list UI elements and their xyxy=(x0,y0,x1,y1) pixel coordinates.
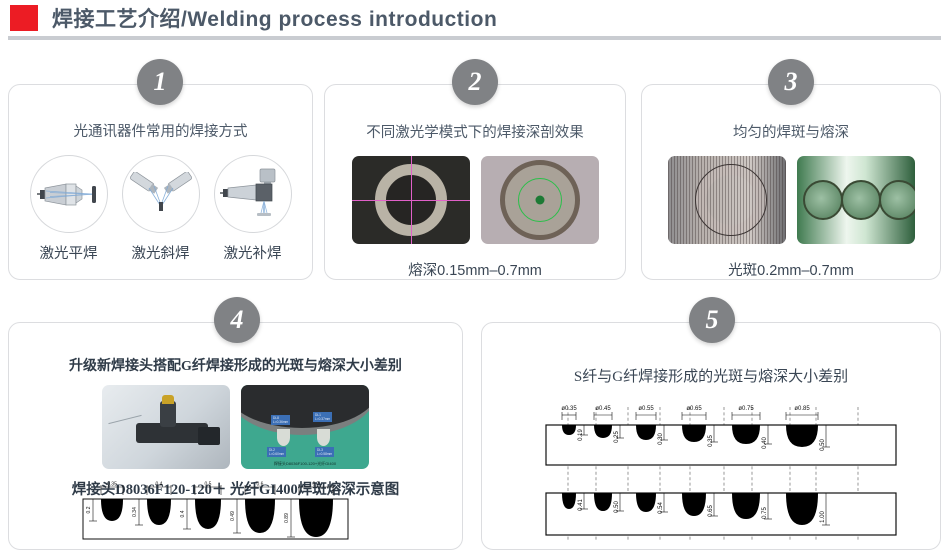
svg-text:0.6: 0.6 xyxy=(257,482,264,488)
svg-text:0.4: 0.4 xyxy=(156,482,163,488)
svg-text:0.65: 0.65 xyxy=(708,505,714,517)
svg-text:0.50: 0.50 xyxy=(820,439,826,451)
card-2-badge: 2 xyxy=(452,59,498,105)
card-5-badge: 5 xyxy=(689,297,735,343)
svg-text:0.75: 0.75 xyxy=(762,507,768,519)
card-2-title: 不同激光学模式下的焊接深剖效果 xyxy=(325,121,625,142)
card-4-penetration-diagram: 0.350.4 0.50.6 0.7 0.2 0.34 0.4 0.49 0.8… xyxy=(71,481,361,547)
svg-text:0.30: 0.30 xyxy=(658,433,664,445)
svg-text:ø0.45: ø0.45 xyxy=(595,406,611,412)
card-1-icon-label-1: 激光斜焊 xyxy=(122,242,200,263)
laser-flat-weld-icon xyxy=(30,155,108,233)
svg-text:0.19: 0.19 xyxy=(578,429,584,441)
svg-text:0.7: 0.7 xyxy=(313,482,320,488)
welding-head-3d-render-photo xyxy=(102,385,230,469)
card-3-photo-row xyxy=(642,156,940,244)
page-root: 焊接工艺介绍/Welding process introduction 1 光通… xyxy=(0,0,949,558)
card-1: 1 光通讯器件常用的焊接方式 xyxy=(8,84,313,280)
card-4-badge: 4 xyxy=(214,297,260,343)
svg-text:0.89: 0.89 xyxy=(284,513,290,523)
card-1-icon-row: 激光平焊 xyxy=(9,155,312,263)
weld-cross-section-green-ring-photo xyxy=(481,156,599,244)
card-1-icon-item-1: 激光斜焊 xyxy=(122,155,200,263)
card-1-icon-label-2: 激光补焊 xyxy=(214,242,292,263)
svg-text:ø0.65: ø0.65 xyxy=(686,406,702,412)
card-1-icon-item-0: 激光平焊 xyxy=(30,155,108,263)
card-5-title: S纤与G纤焊接形成的光斑与熔深大小差别 xyxy=(482,365,940,386)
page-title: 焊接工艺介绍/Welding process introduction xyxy=(52,3,497,33)
card-2-caption: 熔深0.15mm–0.7mm xyxy=(325,259,625,280)
svg-text:1.00: 1.00 xyxy=(820,511,826,523)
page-header: 焊接工艺介绍/Welding process introduction xyxy=(0,0,949,44)
svg-text:0.50: 0.50 xyxy=(614,501,620,513)
svg-text:0.25: 0.25 xyxy=(614,431,620,443)
card-4: 4 升级新焊接头搭配G纤焊接形成的光斑与熔深大小差别 DL8L=0.36mm D… xyxy=(8,322,463,550)
card-5: 5 S纤与G纤焊接形成的光斑与熔深大小差别 xyxy=(481,322,941,550)
svg-text:0.49: 0.49 xyxy=(230,511,236,521)
card-5-comparison-diagram: ø0.35ø0.45 ø0.55ø0.65 ø0.75ø0.85 0.19 0.… xyxy=(524,401,924,547)
svg-text:0.35: 0.35 xyxy=(107,482,117,488)
svg-text:0.34: 0.34 xyxy=(132,507,138,517)
card-1-title: 光通讯器件常用的焊接方式 xyxy=(9,120,312,141)
svg-text:0.4: 0.4 xyxy=(180,510,186,517)
svg-text:0.35: 0.35 xyxy=(708,435,714,447)
card-2: 2 不同激光学模式下的焊接深剖效果 熔深0.15mm–0.7mm xyxy=(324,84,626,280)
card-3-caption: 光斑0.2mm–0.7mm xyxy=(642,259,940,280)
card-4-title: 升级新焊接头搭配G纤焊接形成的光斑与熔深大小差别 xyxy=(9,355,462,375)
svg-text:ø0.75: ø0.75 xyxy=(738,406,754,412)
svg-text:0.2: 0.2 xyxy=(86,506,92,513)
svg-text:0.41: 0.41 xyxy=(578,499,584,511)
svg-text:0.54: 0.54 xyxy=(658,502,664,514)
card-4-photo-row: DL8L=0.36mm DL1L=0.37mm DL2L=0.60mm DL3L… xyxy=(9,385,462,469)
card-3: 3 均匀的焊斑与熔深 光斑0.2mm–0.7mm xyxy=(641,84,941,280)
card-3-badge: 3 xyxy=(768,59,814,105)
svg-text:ø0.55: ø0.55 xyxy=(638,406,654,412)
svg-text:0.5: 0.5 xyxy=(205,482,212,488)
weld-penetration-micrograph-photo: DL8L=0.36mm DL1L=0.37mm DL2L=0.60mm DL3L… xyxy=(241,385,369,469)
weld-spot-striped-ring-photo xyxy=(668,156,786,244)
header-accent-square xyxy=(10,5,38,31)
laser-oblique-weld-icon xyxy=(122,155,200,233)
svg-text:ø0.35: ø0.35 xyxy=(561,406,577,412)
card-2-photo-row xyxy=(325,156,625,244)
card-3-title: 均匀的焊斑与熔深 xyxy=(642,121,940,142)
card-1-badge: 1 xyxy=(137,59,183,105)
header-divider xyxy=(8,36,941,40)
svg-text:ø0.85: ø0.85 xyxy=(794,406,810,412)
svg-text:0.40: 0.40 xyxy=(762,437,768,449)
weld-cross-section-dark-ring-photo xyxy=(352,156,470,244)
weld-spot-green-lenses-photo xyxy=(797,156,915,244)
card-1-icon-item-2: 激光补焊 xyxy=(214,155,292,263)
card-1-icon-label-0: 激光平焊 xyxy=(30,242,108,263)
laser-repair-weld-icon xyxy=(214,155,292,233)
